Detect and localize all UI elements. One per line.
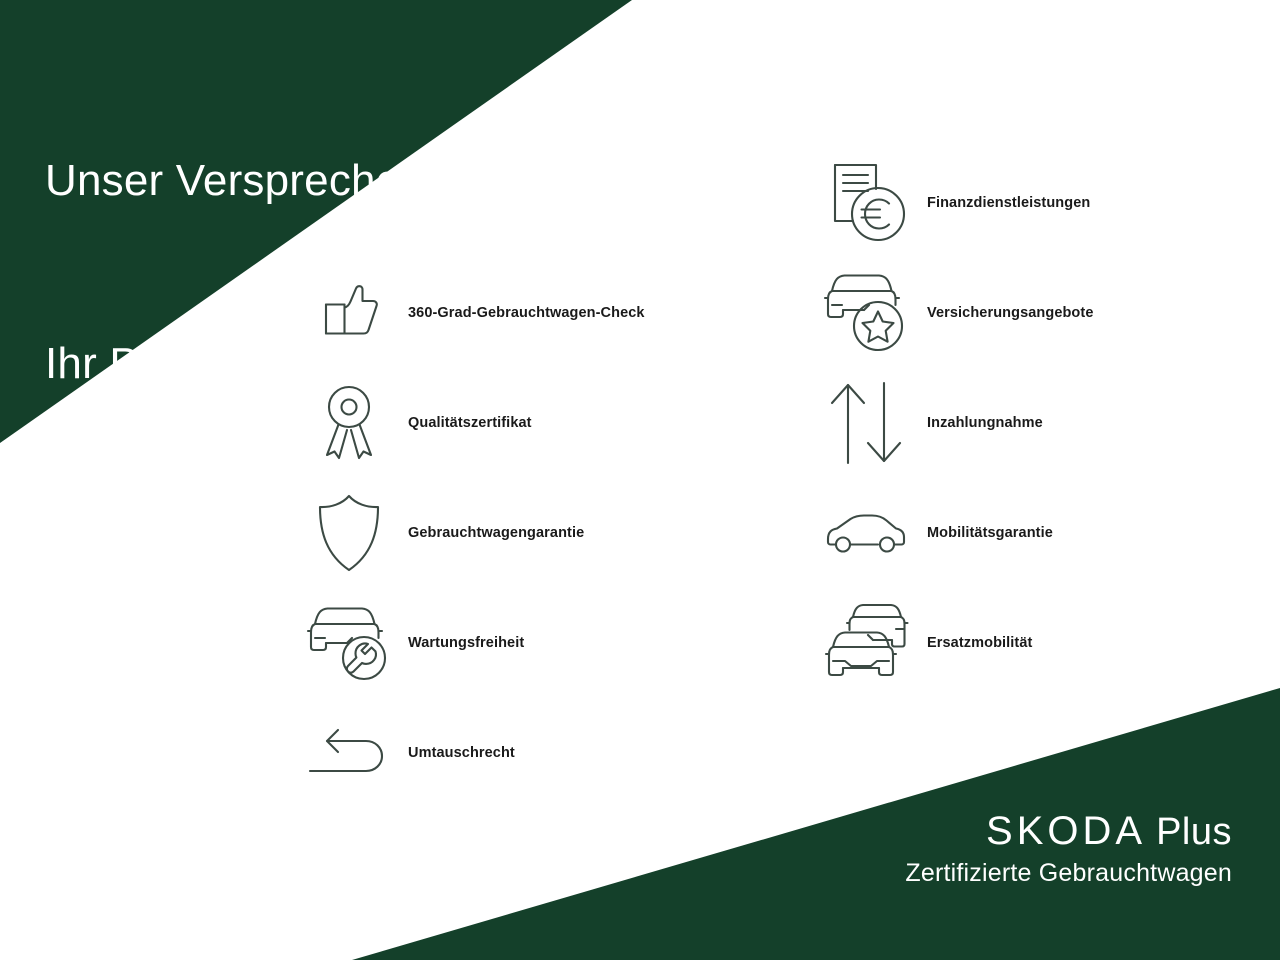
- benefit-item: Qualitätszertifikat: [290, 368, 710, 478]
- benefit-item: Mobilitätsgarantie: [805, 478, 1225, 588]
- benefit-item: 360-Grad-Gebrauchtwagen-Check: [290, 258, 710, 368]
- benefit-label: Versicherungsangebote: [927, 305, 1094, 321]
- benefit-item: Gebrauchtwagengarantie: [290, 478, 710, 588]
- benefit-item: Finanzdienstleistungen: [805, 148, 1225, 258]
- benefits-column-left: 360-Grad-Gebrauchtwagen-Check Qualitätsz…: [290, 258, 710, 808]
- brand-tagline: Zertifizierte Gebrauchtwagen: [905, 859, 1232, 888]
- headline-line-1: Unser Versprechen.: [45, 151, 437, 212]
- benefit-label: Finanzdienstleistungen: [927, 195, 1090, 211]
- shield-icon: [290, 483, 408, 583]
- benefit-item: Umtauschrecht: [290, 698, 710, 808]
- promo-banner: Unser Versprechen. Ihr Plus. 360-Grad-Ge…: [0, 0, 1280, 960]
- award-rosette-icon: [290, 373, 408, 473]
- benefit-label: Umtauschrecht: [408, 745, 515, 761]
- benefits-column-right: Finanzdienstleistungen Versich: [805, 148, 1225, 698]
- benefit-item: Versicherungsangebote: [805, 258, 1225, 368]
- skoda-wordmark: SKODA: [986, 809, 1146, 853]
- car-side-icon: [805, 483, 927, 583]
- benefit-item: Ersatzmobilität: [805, 588, 1225, 698]
- two-cars-icon: [805, 593, 927, 693]
- benefit-label: Gebrauchtwagengarantie: [408, 525, 584, 541]
- car-front-star-icon: [805, 263, 927, 363]
- benefit-item: Inzahlungnahme: [805, 368, 1225, 478]
- benefit-item: Wartungsfreiheit: [290, 588, 710, 698]
- car-front-wrench-icon: [290, 593, 408, 693]
- benefit-label: 360-Grad-Gebrauchtwagen-Check: [408, 305, 645, 321]
- benefit-label: Ersatzmobilität: [927, 635, 1032, 651]
- plus-wordmark: Plus: [1156, 811, 1232, 853]
- benefit-label: Mobilitätsgarantie: [927, 525, 1053, 541]
- benefit-label: Inzahlungnahme: [927, 415, 1043, 431]
- up-down-arrows-icon: [805, 373, 927, 473]
- benefit-label: Qualitätszertifikat: [408, 415, 532, 431]
- document-euro-icon: [805, 153, 927, 253]
- thumbs-up-icon: [290, 263, 408, 363]
- brand-lockup: SKODAPlus Zertifizierte Gebrauchtwagen: [905, 811, 1232, 888]
- brand-title-row: SKODAPlus: [905, 811, 1232, 851]
- return-arrow-icon: [290, 703, 408, 803]
- benefit-label: Wartungsfreiheit: [408, 635, 524, 651]
